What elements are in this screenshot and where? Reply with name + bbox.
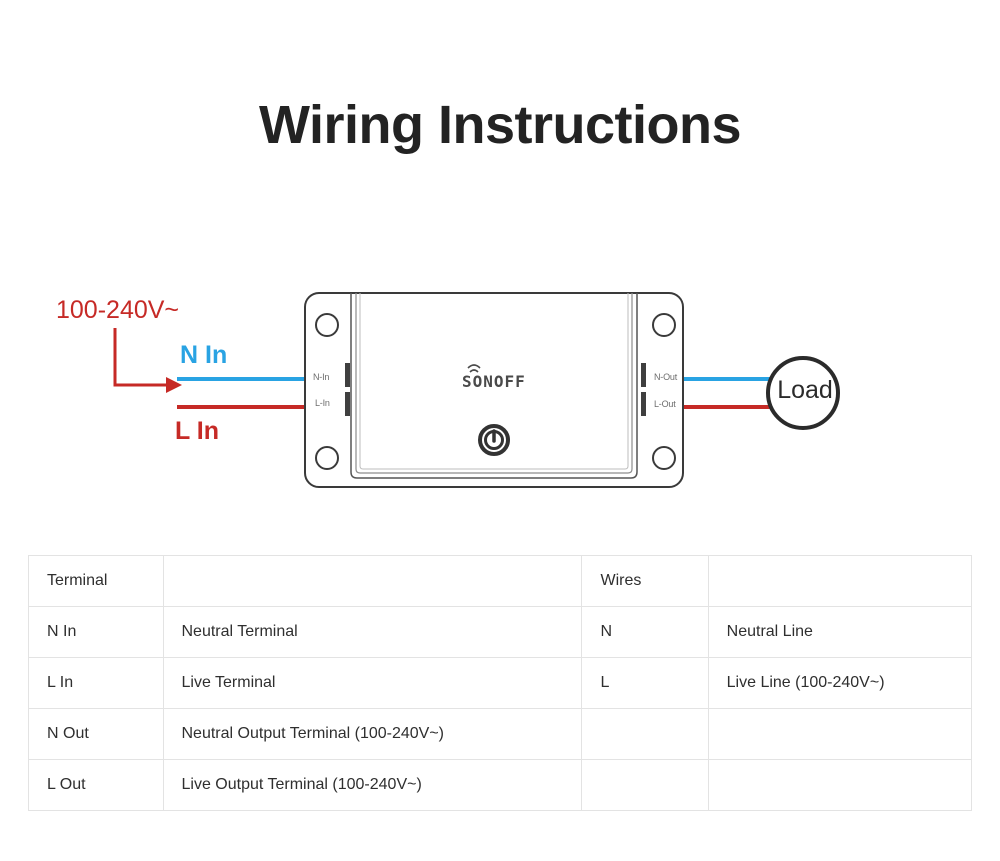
cell-wire (582, 760, 708, 811)
red-arrow-icon (115, 328, 182, 393)
cell-wire: N (582, 607, 708, 658)
cell-terminal: N In (29, 607, 164, 658)
cell-description: Neutral Terminal (163, 607, 582, 658)
power-button-icon[interactable] (480, 426, 508, 454)
cell-wire: L (582, 658, 708, 709)
terminal-slot-l-in (345, 392, 350, 416)
cell-wire-description: Live Line (100-240V~) (708, 658, 971, 709)
header-blank-2 (708, 556, 971, 607)
table-row: L In Live Terminal L Live Line (100-240V… (29, 658, 972, 709)
mounting-hole-bottom-left (316, 447, 338, 469)
cell-wire-description: Neutral Line (708, 607, 971, 658)
cell-wire-description (708, 709, 971, 760)
table-row: N In Neutral Terminal N Neutral Line (29, 607, 972, 658)
cell-wire-description (708, 760, 971, 811)
sonoff-brand-logo: SONOFF (462, 372, 526, 391)
table-row: N Out Neutral Output Terminal (100-240V~… (29, 709, 972, 760)
mounting-hole-bottom-right (653, 447, 675, 469)
cell-description: Live Terminal (163, 658, 582, 709)
terminal-slot-n-out (641, 363, 646, 387)
terminal-tag-l-out: L-Out (654, 399, 676, 409)
terminal-slot-l-out (641, 392, 646, 416)
cell-wire (582, 709, 708, 760)
mounting-hole-top-left (316, 314, 338, 336)
terminal-tag-n-out: N-Out (654, 372, 677, 382)
neutral-in-label: N In (180, 341, 227, 370)
load-label: Load (770, 376, 840, 405)
header-blank-1 (163, 556, 582, 607)
terminal-tag-n-in: N-In (313, 372, 329, 382)
cell-terminal: L In (29, 658, 164, 709)
terminal-spec-table: Terminal Wires N In Neutral Terminal N N… (28, 555, 972, 811)
table-header-row: Terminal Wires (29, 556, 972, 607)
live-in-label: L In (175, 417, 219, 446)
terminal-tag-l-in: L-In (315, 398, 330, 408)
mounting-hole-top-right (653, 314, 675, 336)
table-row: L Out Live Output Terminal (100-240V~) (29, 760, 972, 811)
cell-terminal: L Out (29, 760, 164, 811)
terminal-slot-n-in (345, 363, 350, 387)
cell-description: Live Output Terminal (100-240V~) (163, 760, 582, 811)
cell-description: Neutral Output Terminal (100-240V~) (163, 709, 582, 760)
cell-terminal: N Out (29, 709, 164, 760)
header-wires: Wires (582, 556, 708, 607)
voltage-label: 100-240V~ (56, 296, 179, 325)
header-terminal: Terminal (29, 556, 164, 607)
